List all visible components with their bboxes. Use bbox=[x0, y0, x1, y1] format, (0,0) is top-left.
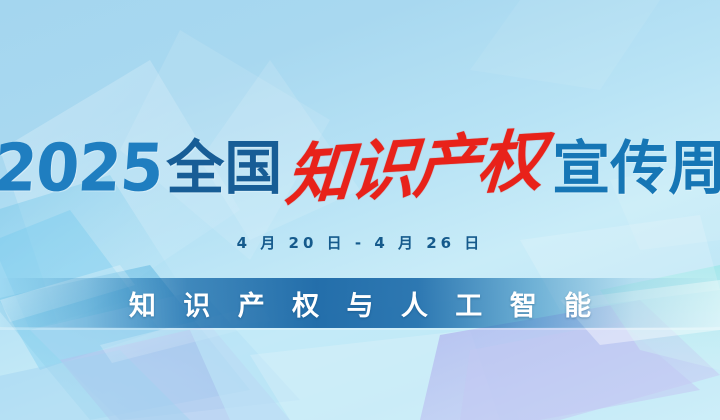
title-year: 2025 bbox=[0, 135, 165, 201]
ip-week-banner: 2025 全国 知识产权 宣传周 4 月 20 日 - 4 月 26 日 知 识… bbox=[0, 0, 720, 420]
subtitle-band: 知 识 产 权 与 人 工 智 能 bbox=[0, 278, 720, 328]
event-date-row: 4 月 20 日 - 4 月 26 日 bbox=[0, 232, 720, 253]
title-week: 宣传周 bbox=[552, 139, 720, 197]
title-ip-calligraphy: 知识产权 bbox=[284, 127, 545, 209]
title-nation: 全国 bbox=[166, 139, 282, 197]
subtitle-text: 知 识 产 权 与 人 工 智 能 bbox=[120, 284, 600, 323]
event-date: 4 月 20 日 - 4 月 26 日 bbox=[237, 232, 484, 253]
banner-title: 2025 全国 知识产权 宣传周 bbox=[0, 128, 720, 208]
